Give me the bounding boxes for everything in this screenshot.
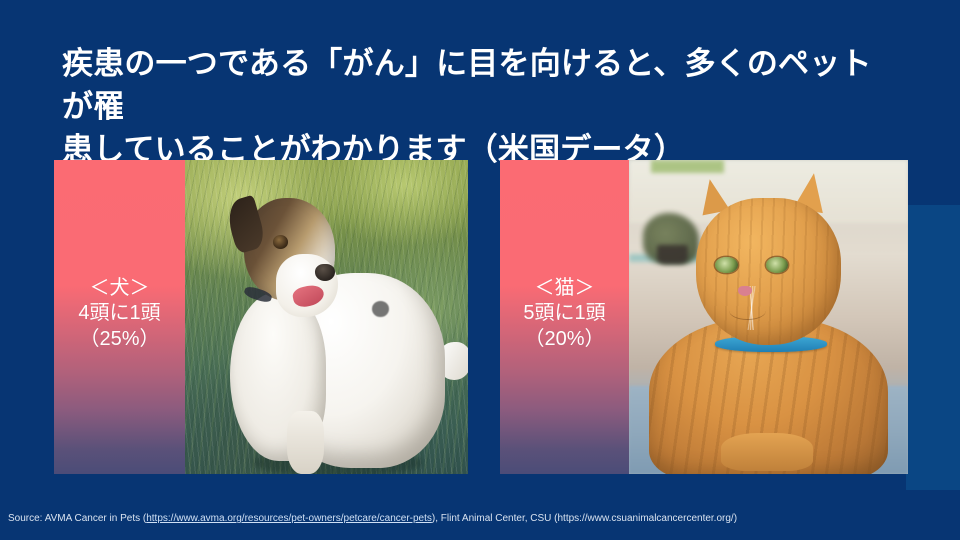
stat-ratio-cat: 5頭に1頭 bbox=[500, 301, 629, 326]
stat-panel-dog: ＜犬＞ 4頭に1頭 （25%） bbox=[54, 160, 185, 474]
dog-illustration bbox=[185, 160, 468, 474]
source-prefix: Source: AVMA Cancer in Pets ( bbox=[8, 513, 146, 524]
dog-nose bbox=[315, 264, 335, 281]
stat-card-dog: ＜犬＞ 4頭に1頭 （25%） bbox=[54, 160, 468, 474]
dog-front-leg bbox=[287, 411, 324, 474]
stat-label-cat: ＜猫＞ bbox=[500, 276, 629, 301]
photo-dog bbox=[185, 160, 468, 474]
page-title: 疾患の一つである「がん」に目を向けると、多くのペットが罹 患していることがわかり… bbox=[62, 43, 892, 171]
stat-label-dog: ＜犬＞ bbox=[54, 276, 185, 301]
photo-cat bbox=[629, 160, 908, 474]
cat-mouth bbox=[729, 301, 765, 320]
stat-ratio-dog: 4頭に1頭 bbox=[54, 301, 185, 326]
stat-text-dog: ＜犬＞ 4頭に1頭 （25%） bbox=[54, 276, 185, 352]
cat-eye-left bbox=[715, 257, 737, 273]
source-link-avma[interactable]: https://www.avma.org/resources/pet-owner… bbox=[146, 513, 432, 524]
cat-paws bbox=[721, 433, 813, 471]
source-middle: ), Flint Animal Center, CSU ( bbox=[432, 513, 558, 524]
slide-canvas: 疾患の一つである「がん」に目を向けると、多くのペットが罹 患していることがわかり… bbox=[0, 0, 960, 540]
stat-percent-cat: （20%） bbox=[500, 327, 629, 352]
source-footnote: Source: AVMA Cancer in Pets (https://www… bbox=[8, 512, 737, 525]
stat-panel-cat: ＜猫＞ 5頭に1頭 （20%） bbox=[500, 160, 629, 474]
background-accent-block bbox=[906, 205, 960, 490]
dog-body-spot bbox=[372, 301, 389, 317]
cat-eye-right bbox=[766, 257, 788, 273]
stat-percent-dog: （25%） bbox=[54, 327, 185, 352]
stat-card-cat: ＜猫＞ 5頭に1頭 （20%） bbox=[500, 160, 908, 474]
stat-text-cat: ＜猫＞ 5頭に1頭 （20%） bbox=[500, 276, 629, 352]
window-greenery bbox=[651, 160, 724, 173]
source-suffix: ) bbox=[734, 513, 737, 524]
plant-pot bbox=[657, 245, 688, 264]
source-link-csu[interactable]: https://www.csuanimalcancercenter.org/ bbox=[558, 513, 734, 524]
cat-illustration bbox=[629, 160, 908, 474]
